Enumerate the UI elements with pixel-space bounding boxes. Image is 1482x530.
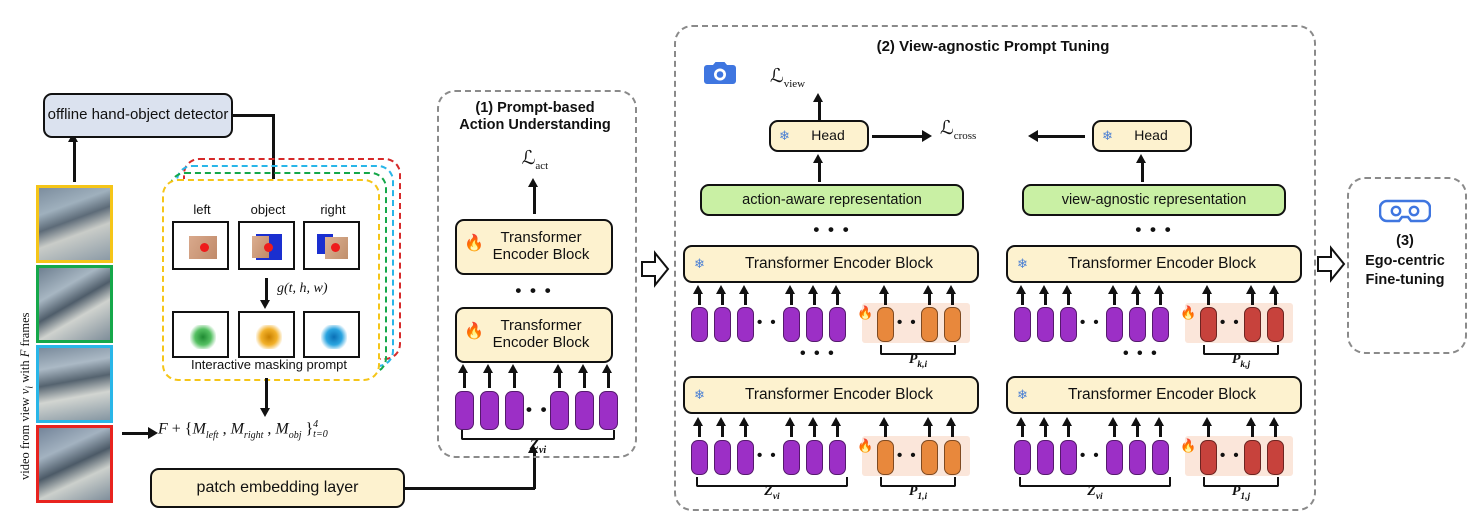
tok-arrow-head bbox=[739, 417, 749, 426]
snowflake-icon: ❄ bbox=[1017, 257, 1028, 272]
stage2-left-encoder-bottom-label: Transformer Encoder Block bbox=[729, 386, 933, 403]
tok-arrow-head bbox=[716, 417, 726, 426]
loss-view-sub: view bbox=[784, 78, 805, 90]
crop-box-left bbox=[172, 221, 229, 270]
tok-arrow-head bbox=[578, 364, 588, 373]
loss-act-label: ℒact bbox=[443, 148, 627, 172]
head-right-to-cross-head bbox=[1028, 130, 1038, 142]
patch-embedding-layer-box[interactable]: patch embedding layer bbox=[150, 468, 405, 508]
stage1-title: (1) Prompt-based Action Understanding bbox=[443, 100, 627, 133]
stage2-to-stage3-arrow bbox=[1316, 245, 1346, 283]
token-purple bbox=[714, 440, 731, 475]
mask-col-label-left: left bbox=[172, 203, 232, 218]
Z-vi-left: Z bbox=[764, 484, 773, 499]
video-source-label-mid: with bbox=[18, 357, 32, 385]
token-purple bbox=[1129, 307, 1146, 342]
stage2-right-ellipsis: • • • bbox=[1022, 220, 1286, 240]
token-orange bbox=[921, 440, 938, 475]
tok-arrow-head bbox=[1131, 417, 1141, 426]
formula-M3: M bbox=[275, 421, 288, 438]
tok-arrow-head bbox=[1202, 417, 1212, 426]
detector-out-h bbox=[233, 114, 275, 117]
video-frame-4 bbox=[36, 425, 113, 503]
token-orange bbox=[877, 440, 894, 475]
token-purple bbox=[1106, 307, 1123, 342]
Z-vi-right: Z bbox=[1087, 484, 1096, 499]
P-1-j-sub: 1,j bbox=[1240, 492, 1250, 502]
token-purple bbox=[1152, 307, 1169, 342]
token-purple bbox=[550, 391, 569, 430]
formula-M3-sub: obj bbox=[289, 430, 302, 441]
stage1-ellipsis-text: • • • bbox=[515, 281, 552, 300]
video-frame-1 bbox=[36, 185, 113, 263]
head-box-left[interactable]: ❄ Head bbox=[769, 120, 869, 152]
tok-arrow-head bbox=[785, 285, 795, 294]
mask-box-object bbox=[238, 311, 295, 358]
flame-icon: 🔥 bbox=[464, 323, 484, 341]
stage3-title-line2: Ego-centric bbox=[1365, 253, 1445, 269]
stage1-loss-arrow-line bbox=[533, 185, 536, 214]
head-left-label: Head bbox=[793, 128, 844, 144]
crop-box-right bbox=[303, 221, 360, 270]
tok-arrow-head bbox=[1269, 417, 1279, 426]
tok-arrow-head bbox=[693, 285, 703, 294]
tok-arrow-head bbox=[739, 285, 749, 294]
token-purple bbox=[1037, 440, 1054, 475]
token-purple bbox=[1152, 440, 1169, 475]
stage2-title: (2) View-agnostic Prompt Tuning bbox=[700, 38, 1286, 55]
stage2-right-encoder-bottom[interactable]: ❄ Transformer Encoder Block bbox=[1006, 376, 1302, 414]
tok-arrow-head bbox=[1131, 285, 1141, 294]
token-red bbox=[1200, 307, 1217, 342]
stage2-left-encoder-top-label: Transformer Encoder Block bbox=[729, 255, 933, 272]
frames-symbol: F bbox=[18, 350, 32, 358]
patch-embedding-label: patch embedding layer bbox=[197, 479, 359, 497]
token-orange bbox=[877, 307, 894, 342]
tok-arrow-head bbox=[1016, 285, 1026, 294]
vr-goggles-icon bbox=[1379, 196, 1431, 229]
Z-vi-left-sub: vi bbox=[773, 492, 780, 502]
g-function-text: g(t, h, w) bbox=[277, 281, 328, 296]
stage2-right-encoder-top-label: Transformer Encoder Block bbox=[1052, 255, 1256, 272]
stage1-title-line1: (1) Prompt-based bbox=[475, 100, 594, 116]
tok-arrow-head bbox=[1108, 285, 1118, 294]
mask-col-label-right: right bbox=[303, 203, 363, 218]
tok-arrow-head bbox=[831, 417, 841, 426]
tok-arrow-head bbox=[1039, 285, 1049, 294]
camera-icon bbox=[703, 58, 737, 91]
tok-arrow-head bbox=[553, 364, 563, 373]
token-purple bbox=[737, 440, 754, 475]
stage1-encoder-block-top[interactable]: 🔥 Transformer Encoder Block bbox=[455, 219, 613, 275]
token-purple bbox=[714, 307, 731, 342]
video-frame-3 bbox=[36, 345, 113, 423]
Z-vi-right-sub: vi bbox=[1096, 492, 1103, 502]
mask-col-object-text: object bbox=[251, 202, 286, 217]
token-red bbox=[1200, 440, 1217, 475]
video-source-label-post: frames bbox=[18, 313, 32, 350]
snowflake-icon: ❄ bbox=[694, 388, 705, 403]
token-purple bbox=[829, 440, 846, 475]
view-subscript: i bbox=[25, 386, 36, 389]
stage3-title-line1: (3) bbox=[1396, 233, 1414, 249]
formula-F: F bbox=[158, 421, 168, 438]
loss-cross-sub: cross bbox=[954, 130, 977, 142]
token-purple bbox=[783, 440, 800, 475]
P-k-i-sub: k,i bbox=[917, 360, 927, 370]
formula-sub: t=0 bbox=[313, 430, 328, 440]
stage1-to-stage2-arrow bbox=[640, 250, 670, 288]
mask-box-right bbox=[303, 311, 360, 358]
detector-label: offline hand-object detector bbox=[48, 107, 229, 124]
P-k-j-sub: k,j bbox=[1240, 360, 1250, 370]
formula-M2: M bbox=[231, 421, 244, 438]
tok-arrow-head bbox=[1202, 285, 1212, 294]
action-aware-representation-label: action-aware representation bbox=[742, 192, 922, 208]
mask-formula: F + {Mleft , Mright , Mobj } 4 t=0 bbox=[158, 420, 328, 441]
stage2-left-vertical-ellipsis: • • • bbox=[800, 345, 836, 363]
token-orange bbox=[921, 307, 938, 342]
token-purple bbox=[455, 391, 474, 430]
tok-arrow-head bbox=[458, 364, 468, 373]
formula-M1-sub: left bbox=[206, 430, 219, 441]
prompt-label-left-lower: P1,i bbox=[880, 484, 956, 503]
token-purple bbox=[480, 391, 499, 430]
loss-cross-label: ℒcross bbox=[940, 118, 976, 142]
token-red bbox=[1267, 307, 1284, 342]
arrow-frames-to-detector-line bbox=[73, 140, 76, 182]
mask-col-left-text: left bbox=[193, 202, 210, 217]
tok-arrow-head bbox=[1269, 285, 1279, 294]
token-purple bbox=[691, 440, 708, 475]
formula-sep2: , bbox=[263, 421, 275, 438]
formula-sep1: , bbox=[219, 421, 231, 438]
stage1-loss-arrow-head bbox=[528, 178, 538, 187]
tok-arrow-head bbox=[1154, 417, 1164, 426]
tok-arrow-head bbox=[602, 364, 612, 373]
loss-view-label: ℒview bbox=[770, 66, 805, 90]
loss-view-arrow-line bbox=[818, 100, 821, 120]
token-purple bbox=[505, 391, 524, 430]
flame-icon: 🔥 bbox=[464, 235, 484, 253]
flame-icon: 🔥 bbox=[1180, 438, 1196, 454]
token-purple bbox=[1129, 440, 1146, 475]
tok-arrow-head bbox=[808, 285, 818, 294]
stage2-left-encoder-bottom[interactable]: ❄ Transformer Encoder Block bbox=[683, 376, 979, 414]
video-source-label-pre: video from view bbox=[18, 394, 32, 480]
snowflake-icon: ❄ bbox=[1017, 388, 1028, 403]
view-agnostic-representation-label: view-agnostic representation bbox=[1062, 192, 1247, 208]
tok-arrow-head bbox=[716, 285, 726, 294]
loss-view-arrow-head bbox=[813, 93, 823, 102]
head-left-to-cross-head bbox=[922, 130, 932, 142]
snowflake-icon: ❄ bbox=[694, 257, 705, 272]
stage3-title: (3) Ego-centric Fine-tuning bbox=[1352, 232, 1458, 291]
stage1-ellipsis: • • • bbox=[455, 281, 613, 301]
token-purple bbox=[806, 307, 823, 342]
token-orange bbox=[944, 440, 961, 475]
stage3-title-line3: Fine-tuning bbox=[1366, 272, 1445, 288]
patch-to-stage1-h bbox=[405, 487, 535, 490]
prompt-label-right-lower: P1,j bbox=[1203, 484, 1279, 503]
masking-to-formula-line bbox=[265, 378, 268, 410]
tok-arrow-head bbox=[879, 417, 889, 426]
stage2-right-ellipsis-text: • • • bbox=[1135, 220, 1172, 239]
stage2-left-ellipsis: • • • bbox=[700, 220, 964, 240]
token-group-label-right: Zvi bbox=[1019, 484, 1171, 503]
token-purple bbox=[599, 391, 618, 430]
rep-left-to-head-line bbox=[818, 160, 821, 182]
g-function-arrow-line bbox=[265, 278, 268, 302]
token-purple bbox=[806, 440, 823, 475]
token-purple bbox=[737, 307, 754, 342]
tok-arrow-head bbox=[923, 417, 933, 426]
tok-arrow-head bbox=[1062, 417, 1072, 426]
g-function-label: g(t, h, w) bbox=[277, 281, 328, 297]
token-purple bbox=[691, 307, 708, 342]
token-group-label-left: Zvi bbox=[696, 484, 848, 503]
tok-arrow-head bbox=[1062, 285, 1072, 294]
stage2-right-encoder-bottom-label: Transformer Encoder Block bbox=[1052, 386, 1256, 403]
tok-arrow-head bbox=[946, 417, 956, 426]
token-red bbox=[1267, 440, 1284, 475]
rep-right-to-head-line bbox=[1141, 160, 1144, 182]
tok-arrow-head bbox=[879, 285, 889, 294]
mask-box-left bbox=[172, 311, 229, 358]
tok-arrow-head bbox=[1246, 285, 1256, 294]
view-symbol: v bbox=[18, 389, 32, 395]
tok-arrow-head bbox=[508, 364, 518, 373]
stage2-right-vertical-ellipsis: • • • bbox=[1123, 345, 1159, 363]
g-function-arrow-head bbox=[260, 300, 270, 309]
mask-col-label-object: object bbox=[238, 203, 298, 218]
stage1-encoder-block-bottom[interactable]: 🔥 Transformer Encoder Block bbox=[455, 307, 613, 363]
prompt-label-left-upper: Pk,i bbox=[880, 352, 956, 371]
tok-arrow-head bbox=[785, 417, 795, 426]
formula-M1: M bbox=[192, 421, 205, 438]
stage1-token-group-label: Zvi bbox=[461, 437, 615, 457]
head-right-to-cross-line bbox=[1033, 135, 1085, 138]
token-purple bbox=[1106, 440, 1123, 475]
token-purple bbox=[829, 307, 846, 342]
token-red bbox=[1244, 440, 1261, 475]
rep-right-to-head-head bbox=[1136, 154, 1146, 163]
flame-icon: 🔥 bbox=[857, 305, 873, 321]
rep-left-to-head-head bbox=[813, 154, 823, 163]
video-source-label: video from view vi with F frames bbox=[18, 313, 36, 480]
tok-arrow-head bbox=[693, 417, 703, 426]
token-purple bbox=[1060, 440, 1077, 475]
video-frame-2 bbox=[36, 265, 113, 343]
offline-hand-object-detector-box[interactable]: offline hand-object detector bbox=[43, 93, 233, 138]
stage2-right-encoder-top[interactable]: ❄ Transformer Encoder Block bbox=[1006, 245, 1302, 283]
tok-arrow-head bbox=[946, 285, 956, 294]
stage1-title-line2: Action Understanding bbox=[459, 117, 610, 133]
stage2-title-text: (2) View-agnostic Prompt Tuning bbox=[877, 38, 1110, 55]
formula-M2-sub: right bbox=[244, 430, 263, 441]
stage2-left-ellipsis-text: • • • bbox=[813, 220, 850, 239]
tok-arrow-head bbox=[831, 285, 841, 294]
tok-arrow-head bbox=[923, 285, 933, 294]
crop-box-object bbox=[238, 221, 295, 270]
token-purple bbox=[575, 391, 594, 430]
formula-plus: + { bbox=[168, 421, 193, 438]
loss-act-sub: act bbox=[535, 160, 548, 172]
tok-arrow-head bbox=[1108, 417, 1118, 426]
token-purple bbox=[1014, 440, 1031, 475]
token-red bbox=[1244, 307, 1261, 342]
masking-prompt-caption: Interactive masking prompt bbox=[162, 358, 376, 373]
snowflake-icon: ❄ bbox=[1102, 129, 1113, 144]
token-purple bbox=[1037, 307, 1054, 342]
tok-arrow-head bbox=[1154, 285, 1164, 294]
head-right-label: Head bbox=[1116, 128, 1167, 144]
masking-prompt-caption-text: Interactive masking prompt bbox=[191, 357, 347, 372]
tok-arrow-head bbox=[808, 417, 818, 426]
flame-icon: 🔥 bbox=[1180, 305, 1196, 321]
view-agnostic-representation-box[interactable]: view-agnostic representation bbox=[1022, 184, 1286, 216]
tok-arrow-head bbox=[1016, 417, 1026, 426]
token-purple bbox=[1060, 307, 1077, 342]
tok-arrow-head bbox=[483, 364, 493, 373]
frames-to-formula-head bbox=[148, 427, 158, 439]
head-left-to-cross-line bbox=[872, 135, 924, 138]
masking-to-formula-head bbox=[260, 408, 270, 417]
prompt-label-right-upper: Pk,j bbox=[1203, 352, 1279, 371]
action-aware-representation-box[interactable]: action-aware representation bbox=[700, 184, 964, 216]
token-orange bbox=[944, 307, 961, 342]
stage1-Z-sub: vi bbox=[539, 445, 546, 456]
flame-icon: 🔥 bbox=[857, 438, 873, 454]
snowflake-icon: ❄ bbox=[779, 129, 790, 144]
head-box-right[interactable]: ❄ Head bbox=[1092, 120, 1192, 152]
formula-close: } bbox=[301, 421, 313, 438]
token-purple bbox=[1014, 307, 1031, 342]
stage2-left-encoder-top[interactable]: ❄ Transformer Encoder Block bbox=[683, 245, 979, 283]
token-purple bbox=[783, 307, 800, 342]
P-1-i-sub: 1,i bbox=[917, 492, 927, 502]
stage1-Z: Z bbox=[530, 437, 539, 453]
frames-to-formula-line bbox=[122, 432, 150, 435]
tok-arrow-head bbox=[1039, 417, 1049, 426]
mask-col-right-text: right bbox=[320, 202, 345, 217]
tok-arrow-head bbox=[1246, 417, 1256, 426]
